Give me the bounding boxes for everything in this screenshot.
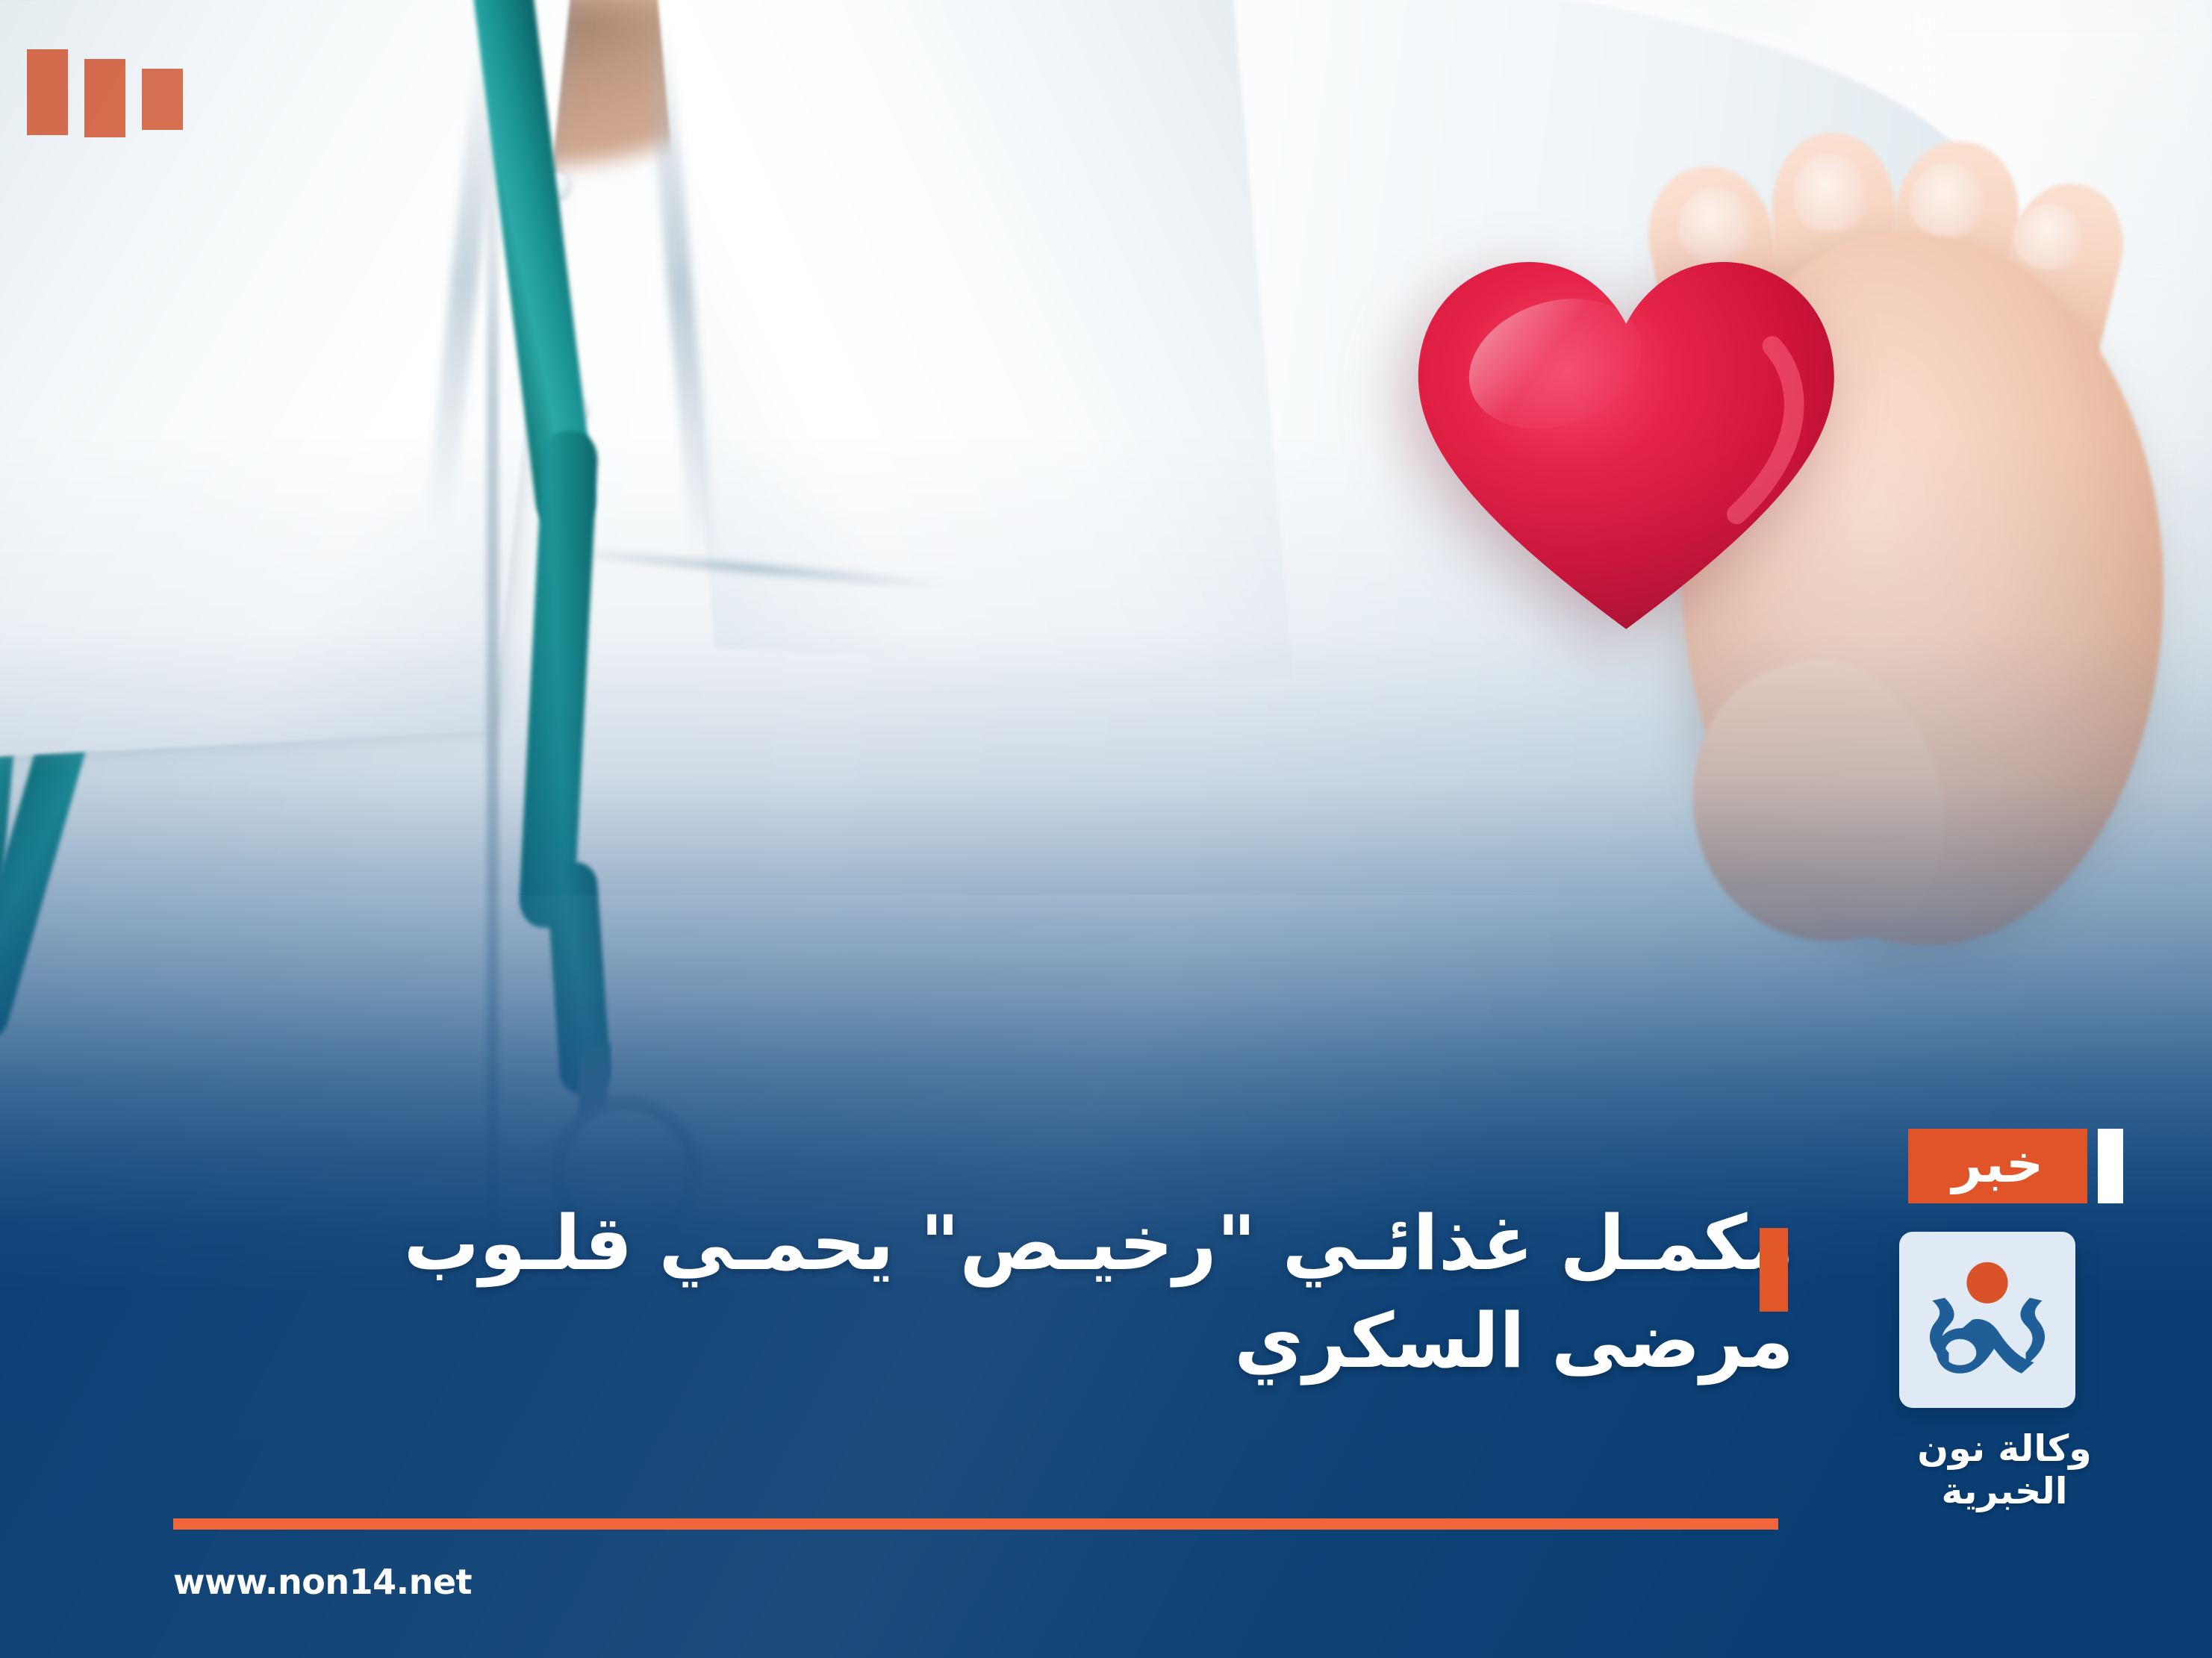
news-badge-label: خبر <box>1952 1138 2044 1194</box>
headline-line-1: مكمـل غذائـي "رخيـص" يحمـي قلـوب <box>149 1194 1794 1292</box>
headline-line-2: مرضى السكري <box>149 1292 1794 1390</box>
news-badge-stripe <box>2098 1129 2123 1203</box>
orange-divider <box>173 1518 1778 1530</box>
three-bar-mark <box>27 49 183 137</box>
mark-bar-3 <box>142 69 183 130</box>
agency-logo-tile <box>1899 1232 2075 1408</box>
mark-bar-2 <box>84 59 125 137</box>
noon-agency-logo-icon <box>1919 1251 2056 1389</box>
agency-name: وكالة نون الخبرية <box>1865 1427 2144 1512</box>
news-badge: خبر <box>1908 1129 2087 1203</box>
site-url[interactable]: www.non14.net <box>173 1562 472 1602</box>
headline: مكمـل غذائـي "رخيـص" يحمـي قلـوب مرضى ال… <box>149 1194 1794 1391</box>
headline-accent-bar <box>1760 1228 1788 1312</box>
news-card: مكمـل غذائـي "رخيـص" يحمـي قلـوب مرضى ال… <box>0 0 2212 1658</box>
mark-bar-1 <box>27 49 68 135</box>
brand-column: خبر وكالة نون الخبرية <box>1865 1129 2178 1512</box>
